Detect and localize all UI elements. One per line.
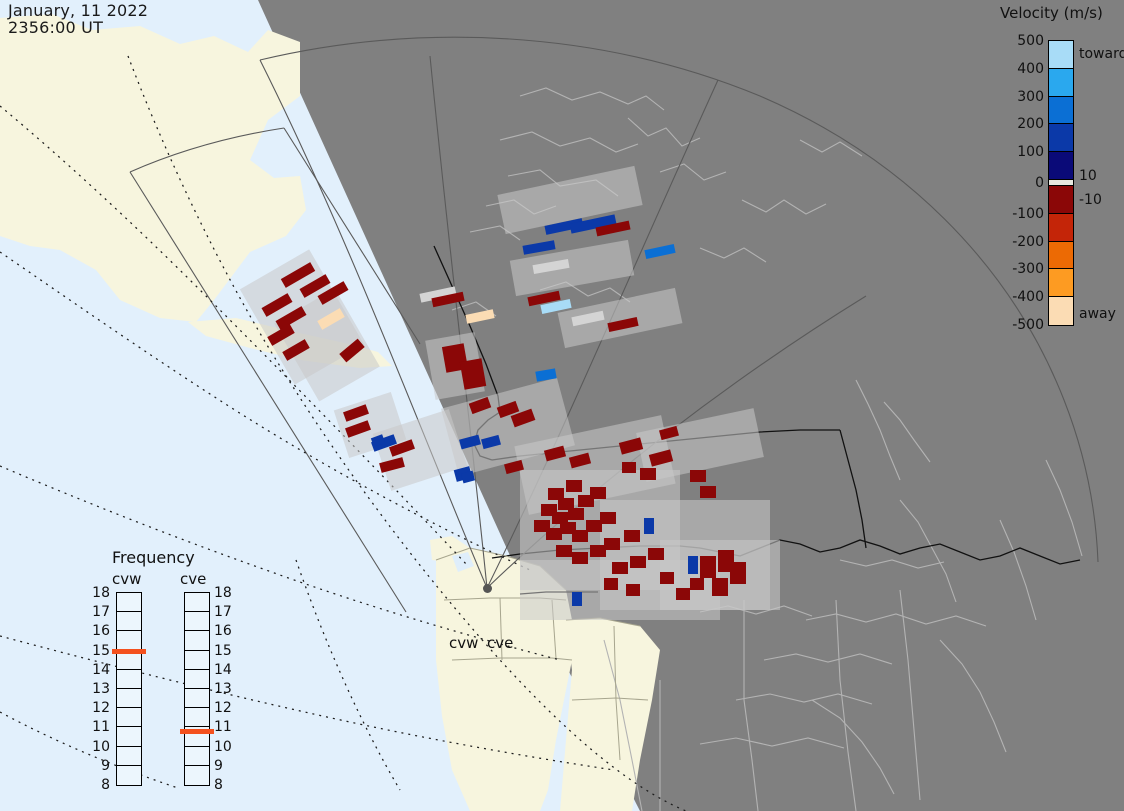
colorbar-tick-label: 0 [1035, 175, 1044, 191]
frequency-tick-label: 16 [214, 623, 232, 639]
colorbar-segment [1049, 124, 1073, 152]
velocity-cell [568, 508, 584, 520]
frequency-cell [117, 689, 141, 708]
velocity-cell [590, 545, 606, 557]
colorbar-pos-threshold-label: 10 [1079, 168, 1097, 184]
frequency-tick-label: 15 [88, 643, 110, 659]
velocity-cell [700, 486, 716, 498]
frequency-tick-label: 14 [88, 662, 110, 678]
colorbar-segment [1049, 242, 1073, 270]
colorbar-segment [1049, 186, 1073, 214]
map-label-cvw: cvw [449, 634, 478, 652]
frequency-tick-label: 17 [88, 604, 110, 620]
frequency-tick-label: 13 [214, 681, 232, 697]
colorbar-segment [1049, 69, 1073, 97]
colorbar-tick-label: -100 [1012, 206, 1044, 222]
colorbar-title: Velocity (m/s) [1000, 4, 1103, 22]
frequency-tick-label: 9 [214, 758, 223, 774]
colorbar-tick-label: 200 [1017, 116, 1044, 132]
frequency-column-label-cve: cve [180, 570, 206, 588]
colorbar-tick-label: -400 [1012, 289, 1044, 305]
frequency-tick-label: 15 [214, 643, 232, 659]
velocity-cell [630, 556, 646, 568]
velocity-cell [676, 588, 690, 600]
colorbar-tick-label: 300 [1017, 89, 1044, 105]
colorbar-segment [1049, 152, 1073, 180]
velocity-cell [556, 545, 572, 557]
velocity-cell [626, 584, 640, 596]
velocity-cell [586, 520, 602, 532]
colorbar-tick-label: 100 [1017, 144, 1044, 160]
frequency-tick-label: 18 [214, 585, 232, 601]
frequency-tick-label: 16 [88, 623, 110, 639]
colorbar-segment [1049, 297, 1073, 325]
frequency-cell [117, 670, 141, 689]
colorbar-tick-label: -200 [1012, 234, 1044, 250]
velocity-cell [590, 487, 606, 499]
velocity-cell [546, 528, 562, 540]
velocity-cell [604, 578, 618, 590]
colorbar-segment [1049, 41, 1073, 69]
timestamp: January, 11 20222356:00 UT [8, 2, 148, 36]
velocity-cell [730, 562, 746, 584]
velocity-cell [688, 556, 698, 574]
frequency-bar-cvw[interactable] [116, 592, 142, 786]
velocity-cell [612, 562, 628, 574]
colorbar-neg-threshold-label: -10 [1079, 192, 1102, 208]
frequency-column-label-cvw: cvw [112, 570, 141, 588]
colorbar-strip[interactable] [1048, 40, 1074, 326]
colorbar-tick-label: 500 [1017, 33, 1044, 49]
frequency-title: Frequency [112, 548, 195, 567]
frequency-tick-label: 8 [214, 777, 223, 793]
velocity-cell [572, 552, 588, 564]
frequency-marker-cve [180, 729, 214, 734]
colorbar-segment [1049, 269, 1073, 297]
frequency-tick-label: 11 [214, 719, 232, 735]
velocity-cell [640, 468, 656, 480]
frequency-cell [185, 670, 209, 689]
frequency-legend: Frequency cvw cve 18171615141312111098 1… [86, 548, 246, 786]
frequency-cell [117, 708, 141, 727]
frequency-cell [185, 651, 209, 670]
colorbar-away-label: away [1079, 306, 1116, 322]
velocity-cell [566, 480, 582, 492]
velocity-cell [660, 572, 674, 584]
velocity-cell [648, 548, 664, 560]
frequency-cell [117, 747, 141, 766]
frequency-cell [117, 593, 141, 612]
velocity-cell [712, 578, 728, 596]
velocity-cell [624, 530, 640, 542]
frequency-cell [185, 612, 209, 631]
frequency-tick-label: 9 [88, 758, 110, 774]
frequency-cell [117, 727, 141, 746]
superdarn-velocity-map: January, 11 20222356:00 UT cvw cve Veloc… [0, 0, 1124, 811]
frequency-cell [185, 766, 209, 785]
frequency-tick-label: 11 [88, 719, 110, 735]
frequency-cell [185, 689, 209, 708]
frequency-tick-label: 12 [214, 700, 232, 716]
velocity-cell [690, 470, 706, 482]
colorbar-tick-label: 400 [1017, 61, 1044, 77]
frequency-cell [117, 766, 141, 785]
velocity-cell [700, 556, 716, 578]
velocity-cell [604, 538, 620, 550]
colorbar-segment [1049, 214, 1073, 242]
colorbar-toward-label: toward [1079, 46, 1124, 62]
frequency-tick-label: 10 [88, 739, 110, 755]
velocity-cell [644, 518, 654, 534]
frequency-tick-label: 12 [88, 700, 110, 716]
frequency-cell [185, 593, 209, 612]
velocity-cell [572, 530, 588, 542]
frequency-marker-cvw [112, 649, 146, 654]
frequency-tick-label: 13 [88, 681, 110, 697]
velocity-colorbar: Velocity (m/s) 5004003002001000-100-200-… [985, 4, 1120, 334]
velocity-cell [622, 462, 636, 473]
colorbar-tick-label: -300 [1012, 261, 1044, 277]
colorbar-segment [1049, 97, 1073, 125]
radar-site-dot [483, 584, 492, 593]
frequency-tick-label: 18 [88, 585, 110, 601]
frequency-tick-label: 8 [88, 777, 110, 793]
colorbar-tick-label: -500 [1012, 317, 1044, 333]
frequency-bar-cve[interactable] [184, 592, 210, 786]
velocity-cell [600, 512, 616, 524]
frequency-cell [185, 747, 209, 766]
frequency-cell [185, 708, 209, 727]
frequency-tick-label: 17 [214, 604, 232, 620]
frequency-cell [185, 631, 209, 650]
frequency-tick-label: 10 [214, 739, 232, 755]
frequency-cell [117, 612, 141, 631]
velocity-cell [690, 578, 704, 590]
time-label: 2356:00 UT [8, 18, 103, 37]
frequency-tick-label: 14 [214, 662, 232, 678]
velocity-cell [572, 592, 582, 606]
map-label-cve: cve [487, 634, 513, 652]
